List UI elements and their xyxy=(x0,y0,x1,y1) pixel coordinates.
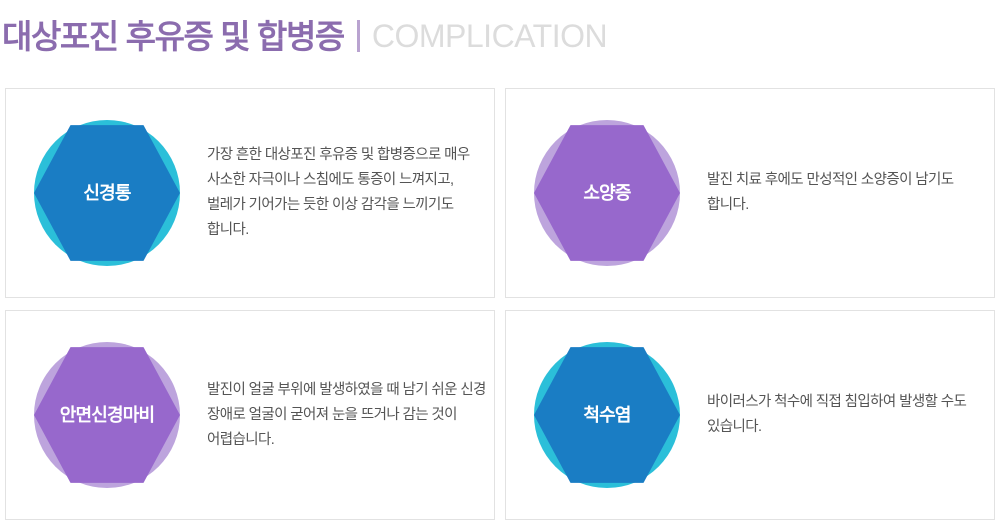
complication-description: 가장 흔한 대상포진 후유증 및 합병증으로 매우 사소한 자극이나 스침에도 … xyxy=(207,143,494,243)
complication-card: 척수염 바이러스가 척수에 직접 침입하여 발생할 수도 있습니다. xyxy=(505,310,995,520)
complication-badge-label: 신경통 xyxy=(83,184,130,202)
page-title-english: COMPLICATION xyxy=(372,20,607,52)
page-title-korean: 대상포진 후유증 및 합병증 xyxy=(2,20,344,53)
complication-description: 바이러스가 척수에 직접 침입하여 발생할 수도 있습니다. xyxy=(707,390,994,440)
complication-badge-label: 척수염 xyxy=(583,406,630,424)
title-divider xyxy=(357,20,360,52)
complication-badge: 안면신경마비 xyxy=(34,342,180,488)
complication-badge: 신경통 xyxy=(34,120,180,266)
complication-card-grid: 신경통 가장 흔한 대상포진 후유증 및 합병증으로 매우 사소한 자극이나 스… xyxy=(5,88,995,508)
complication-description: 발진이 얼굴 부위에 발생하였을 때 남기 쉬운 신경 장애로 얼굴이 굳어져 … xyxy=(207,378,494,453)
complication-card: 소양증 발진 치료 후에도 만성적인 소양증이 남기도 합니다. xyxy=(505,88,995,298)
complication-description: 발진 치료 후에도 만성적인 소양증이 남기도 합니다. xyxy=(707,168,994,218)
complication-card: 안면신경마비 발진이 얼굴 부위에 발생하였을 때 남기 쉬운 신경 장애로 얼… xyxy=(5,310,495,520)
complication-card: 신경통 가장 흔한 대상포진 후유증 및 합병증으로 매우 사소한 자극이나 스… xyxy=(5,88,495,298)
complication-badge-label: 소양증 xyxy=(583,184,630,202)
complication-badge: 척수염 xyxy=(534,342,680,488)
complication-badge-label: 안면신경마비 xyxy=(60,406,155,424)
page-header: 대상포진 후유증 및 합병증 COMPLICATION xyxy=(0,0,1000,72)
complication-badge: 소양증 xyxy=(534,120,680,266)
